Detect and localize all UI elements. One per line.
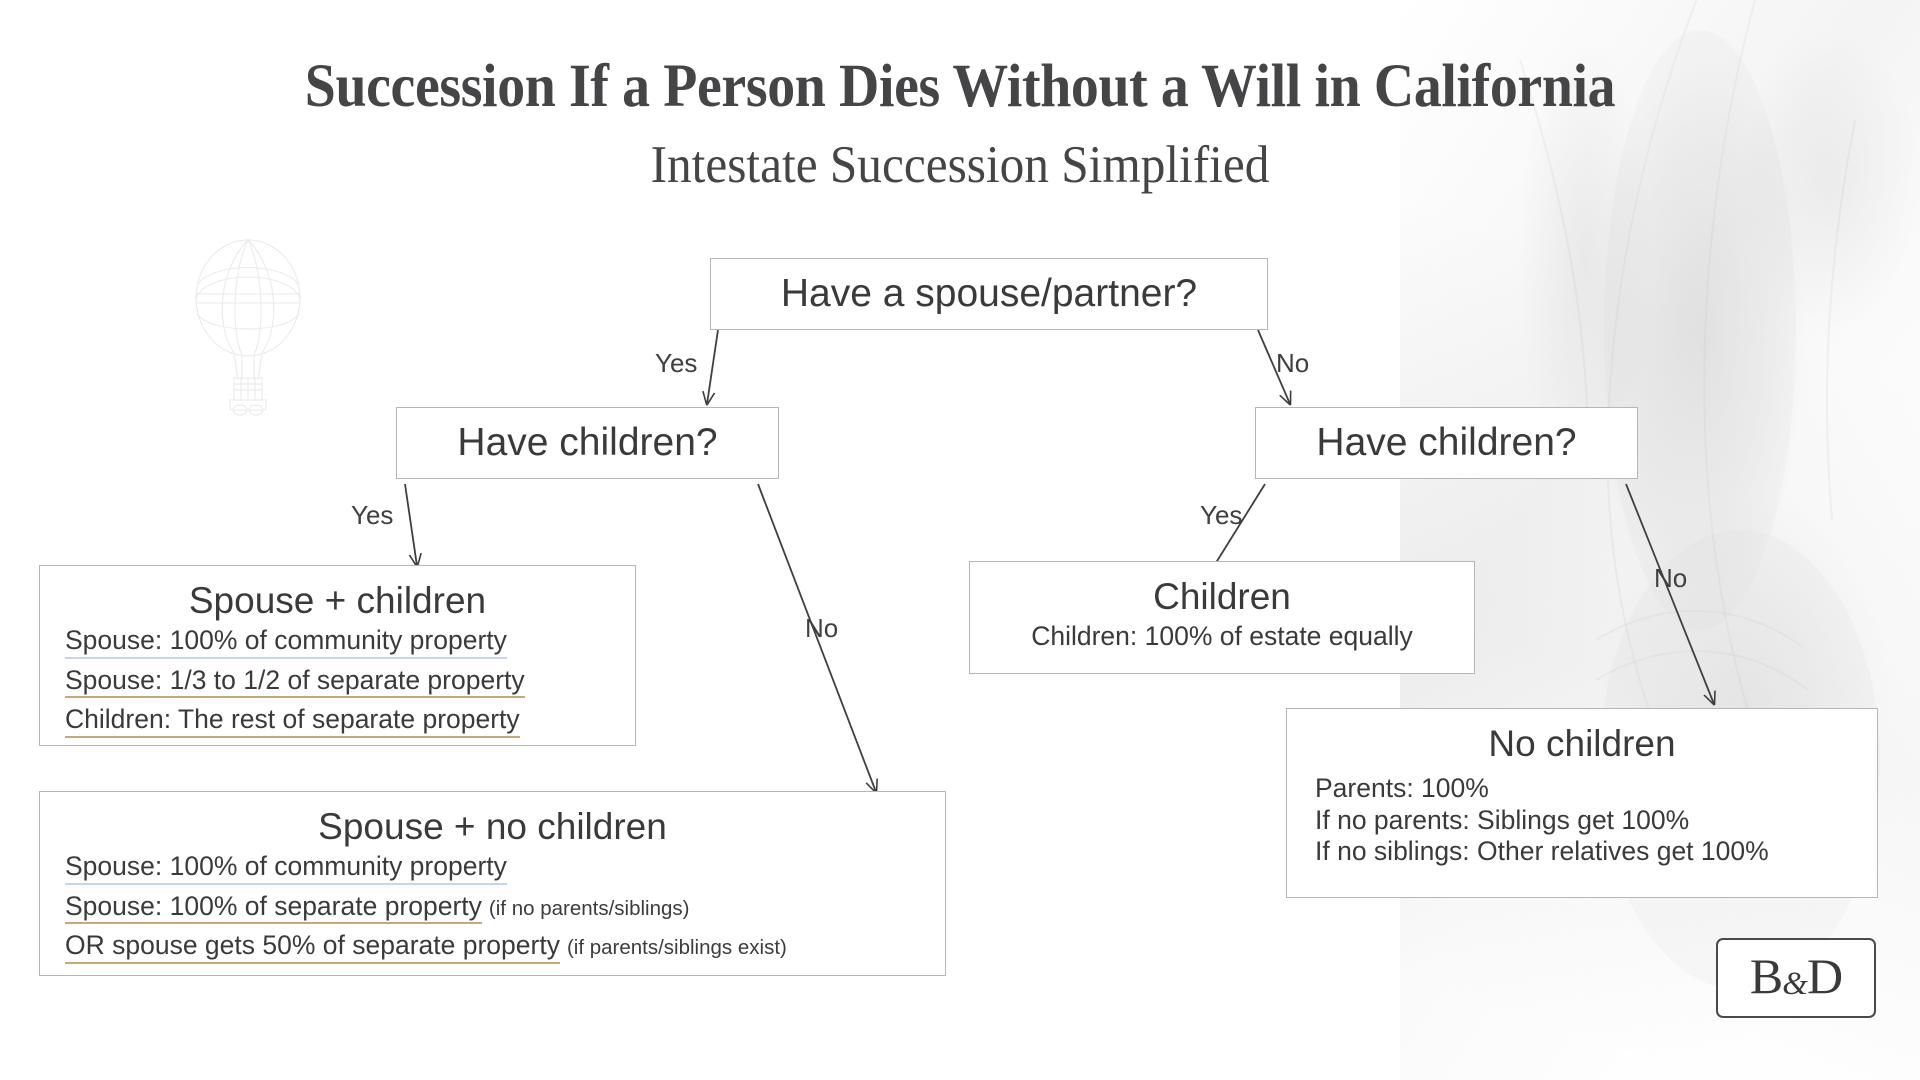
edge-left-yes <box>405 484 417 566</box>
edge-root-yes <box>707 330 718 404</box>
outcome-rows: Spouse: 100% of community property Spous… <box>40 627 635 738</box>
outcome-row: Parents: 100% <box>1315 775 1489 802</box>
outcome-rows: Children: 100% of estate equally <box>970 623 1474 653</box>
outcome-node-spouse-children[interactable]: Spouse + children Spouse: 100% of commun… <box>39 565 636 746</box>
outcome-rows: Spouse: 100% of community property Spous… <box>40 853 945 964</box>
edge-label-left-no: No <box>805 613 838 644</box>
edge-label-root-yes: Yes <box>655 348 697 379</box>
outcome-row-line: Spouse: 100% of separate property(if no … <box>65 893 945 925</box>
logo-initial-b: B <box>1750 948 1782 1004</box>
decision-right-children-label: Have children? <box>1316 421 1576 465</box>
outcome-rows: Parents: 100% If no parents: Siblings ge… <box>1287 775 1877 865</box>
outcome-row: Spouse: 100% of community property <box>65 627 507 659</box>
page-title: Succession If a Person Dies Without a Wi… <box>82 0 1839 117</box>
outcome-row: Spouse: 1/3 to 1/2 of separate property <box>65 667 525 699</box>
outcome-node-children[interactable]: Children Children: 100% of estate equall… <box>969 561 1475 674</box>
outcome-node-no-children[interactable]: No children Parents: 100% If no parents:… <box>1286 708 1878 898</box>
edge-label-right-yes: Yes <box>1200 500 1242 531</box>
edge-label-root-no: No <box>1276 348 1309 379</box>
outcome-row-line: OR spouse gets 50% of separate property(… <box>65 932 945 964</box>
page-subtitle: Intestate Succession Simplified <box>67 117 1853 192</box>
decision-node-right-children[interactable]: Have children? <box>1255 407 1638 479</box>
outcome-row: Children: 100% of estate equally <box>1031 623 1413 650</box>
outcome-row: If no parents: Siblings get 100% <box>1315 807 1689 834</box>
decision-node-left-children[interactable]: Have children? <box>396 407 779 479</box>
outcome-heading: Children <box>970 576 1474 617</box>
outcome-heading: No children <box>1287 723 1877 764</box>
title-block: Succession If a Person Dies Without a Wi… <box>0 0 1920 192</box>
logo-initial-d: D <box>1807 948 1842 1004</box>
outcome-row: Spouse: 100% of community property <box>65 853 507 885</box>
logo-ampersand-icon: & <box>1782 966 1807 1002</box>
outcome-row: Spouse: 100% of separate property <box>65 893 482 925</box>
outcome-row-note: (if no parents/siblings) <box>489 897 690 920</box>
infographic-canvas: Succession If a Person Dies Without a Wi… <box>0 0 1920 1080</box>
brand-logo-text: B&D <box>1750 951 1842 1001</box>
outcome-heading: Spouse + no children <box>40 806 945 847</box>
edge-label-left-yes: Yes <box>351 500 393 531</box>
outcome-row: If no siblings: Other relatives get 100% <box>1315 838 1769 865</box>
decision-root-label: Have a spouse/partner? <box>781 272 1197 316</box>
brand-logo[interactable]: B&D <box>1716 938 1876 1018</box>
outcome-row: OR spouse gets 50% of separate property <box>65 932 560 964</box>
edge-label-right-no: No <box>1654 563 1687 594</box>
outcome-row-note: (if parents/siblings exist) <box>567 936 787 959</box>
decision-node-root[interactable]: Have a spouse/partner? <box>710 258 1268 330</box>
outcome-heading: Spouse + children <box>40 580 635 621</box>
outcome-row: Children: The rest of separate property <box>65 706 520 738</box>
outcome-node-spouse-no-children[interactable]: Spouse + no children Spouse: 100% of com… <box>39 791 946 976</box>
hot-air-balloon-watermark <box>168 228 328 418</box>
decision-left-children-label: Have children? <box>457 421 717 465</box>
edge-right-no <box>1626 484 1714 704</box>
